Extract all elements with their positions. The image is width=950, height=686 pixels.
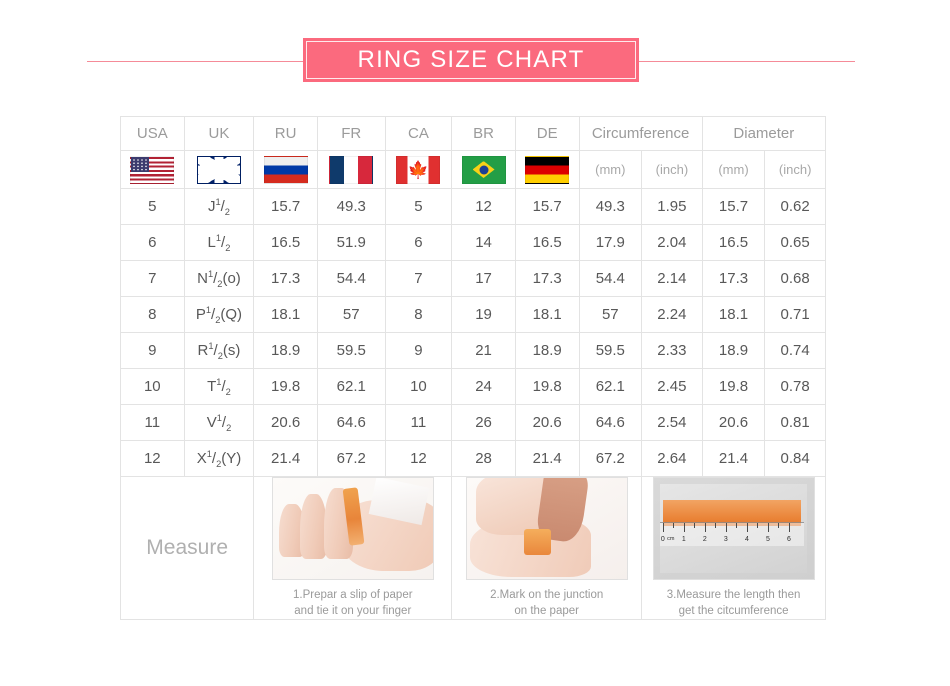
cell-uk: N1/2(o) [184,261,254,297]
cell-ca: 9 [385,333,452,369]
cell-usa: 7 [121,261,185,297]
cell-circ-in: 2.33 [642,333,703,369]
cell-uk: T1/2 [184,369,254,405]
uk-numerator: 1 [206,305,211,315]
cell-circ-mm: 57 [579,297,642,333]
cell-fr: 59.5 [317,333,385,369]
cell-circ-in: 1.95 [642,189,703,225]
cell-uk: X1/2(Y) [184,441,254,477]
cell-dia-in: 0.65 [765,225,826,261]
col-header-br: BR [452,117,516,151]
table-row: 5 J1/2 15.7 49.3 5 12 15.7 49.3 1.95 15.… [121,189,826,225]
page-title-banner: RING SIZE CHART [0,38,950,86]
flag-cell-ru [254,151,318,189]
cell-de: 18.1 [515,297,579,333]
col-header-fr: FR [317,117,385,151]
table-row: 9 R1/2(s) 18.9 59.5 9 21 18.9 59.5 2.33 … [121,333,826,369]
unit-diameter-inch: (inch) [765,151,826,189]
flag-cell-ca: 🍁 [385,151,452,189]
cell-fr: 64.6 [317,405,385,441]
cell-usa: 12 [121,441,185,477]
cell-circ-mm: 64.6 [579,405,642,441]
ruler-label-4: 4 [745,536,749,543]
cell-uk: R1/2(s) [184,333,254,369]
cell-ru: 19.8 [254,369,318,405]
cell-ca: 8 [385,297,452,333]
uk-denominator: 2 [225,207,230,217]
uk-denominator: 2 [225,243,230,253]
cell-dia-mm: 17.3 [702,261,765,297]
uk-denominator: 2 [226,387,231,397]
col-header-usa: USA [121,117,185,151]
uk-suffix: (o) [222,270,240,287]
uk-numerator: 1 [208,269,213,279]
maple-leaf-icon: 🍁 [408,161,429,178]
table-header-row: USA UK RU FR CA BR DE Circumference Diam… [121,117,826,151]
uk-denominator: 2 [226,423,231,433]
cell-circ-in: 2.45 [642,369,703,405]
cell-dia-in: 0.84 [765,441,826,477]
cell-br: 21 [452,333,516,369]
cell-fr: 49.3 [317,189,385,225]
measure-label: Measure [121,477,254,620]
cell-circ-mm: 54.4 [579,261,642,297]
cell-fr: 57 [317,297,385,333]
cell-dia-mm: 21.4 [702,441,765,477]
photo2-orange-strip [524,529,551,555]
hand-with-paper-strip-photo [272,477,434,580]
uk-suffix: (Q) [220,306,242,323]
photo3-ruler: 0 cm 1 2 3 4 5 6 [660,522,804,545]
flag-cell-uk [184,151,254,189]
cell-circ-mm: 17.9 [579,225,642,261]
cell-ca: 5 [385,189,452,225]
ring-size-table: USA UK RU FR CA BR DE Circumference Diam… [120,116,826,620]
cell-ca: 6 [385,225,452,261]
cell-ru: 15.7 [254,189,318,225]
page-title: RING SIZE CHART [358,46,585,74]
cell-ru: 17.3 [254,261,318,297]
table-row: 8 P1/2(Q) 18.1 57 8 19 18.1 57 2.24 18.1… [121,297,826,333]
flag-france-icon [329,156,373,184]
cell-ru: 18.1 [254,297,318,333]
ruler-label-6: 6 [787,536,791,543]
cell-circ-in: 2.14 [642,261,703,297]
measure-step-3: 0 cm 1 2 3 4 5 6 3.Measure the length th… [642,477,826,620]
cell-fr: 51.9 [317,225,385,261]
cell-ca: 12 [385,441,452,477]
table-row: 10 T1/2 19.8 62.1 10 24 19.8 62.1 2.45 1… [121,369,826,405]
uk-numerator: 1 [217,413,222,423]
cell-ru: 18.9 [254,333,318,369]
cell-dia-in: 0.78 [765,369,826,405]
uk-letter: N [197,270,208,287]
title-banner-inner-border: RING SIZE CHART [306,41,636,79]
uk-numerator: 1 [216,377,221,387]
uk-numerator: 1 [216,233,221,243]
col-header-ca: CA [385,117,452,151]
uk-letter: X [197,450,207,467]
table-row: 6 L1/2 16.5 51.9 6 14 16.5 17.9 2.04 16.… [121,225,826,261]
cell-de: 20.6 [515,405,579,441]
col-header-de: DE [515,117,579,151]
ruler-label-0: 0 [661,536,665,543]
unit-circumference-mm: (mm) [579,151,642,189]
cell-dia-mm: 18.9 [702,333,765,369]
unit-circumference-inch: (inch) [642,151,703,189]
uk-numerator: 1 [207,449,212,459]
ruler-label-3: 3 [724,536,728,543]
measure-step-2: 2.Mark on the junction on the paper [452,477,642,620]
cell-fr: 62.1 [317,369,385,405]
cell-br: 19 [452,297,516,333]
uk-suffix: (s) [223,342,241,359]
cell-circ-in: 2.64 [642,441,703,477]
table-row: 7 N1/2(o) 17.3 54.4 7 17 17.3 54.4 2.14 … [121,261,826,297]
cell-dia-in: 0.62 [765,189,826,225]
title-rule-right [639,61,855,62]
cell-usa: 9 [121,333,185,369]
cell-ca: 11 [385,405,452,441]
measure-section-row: Measure 1.Prepar a slip of paper and tie… [121,477,826,620]
ruler-unit-label: cm [667,536,674,542]
cell-circ-mm: 67.2 [579,441,642,477]
cell-usa: 11 [121,405,185,441]
flag-russia-icon [264,156,308,184]
cell-dia-in: 0.74 [765,333,826,369]
cell-circ-in: 2.54 [642,405,703,441]
table-flag-row: 🍁 (mm) (inch) (mm) (inch) [121,151,826,189]
cell-de: 21.4 [515,441,579,477]
cell-usa: 10 [121,369,185,405]
uk-letter: V [207,414,217,431]
cell-dia-mm: 16.5 [702,225,765,261]
cell-uk: J1/2 [184,189,254,225]
cell-fr: 67.2 [317,441,385,477]
unit-diameter-mm: (mm) [702,151,765,189]
flag-cell-usa [121,151,185,189]
cell-de: 18.9 [515,333,579,369]
cell-br: 17 [452,261,516,297]
cell-de: 15.7 [515,189,579,225]
col-header-diameter: Diameter [702,117,825,151]
ruler-label-1: 1 [682,536,686,543]
flag-canada-icon: 🍁 [396,156,440,184]
cell-dia-in: 0.71 [765,297,826,333]
flag-germany-icon [525,156,569,184]
cell-circ-mm: 62.1 [579,369,642,405]
cell-br: 12 [452,189,516,225]
cell-br: 14 [452,225,516,261]
table-row: 12 X1/2(Y) 21.4 67.2 12 28 21.4 67.2 2.6… [121,441,826,477]
flag-cell-br [452,151,516,189]
marking-junction-photo [466,477,628,580]
cell-br: 26 [452,405,516,441]
cell-circ-mm: 59.5 [579,333,642,369]
cell-circ-mm: 49.3 [579,189,642,225]
cell-usa: 8 [121,297,185,333]
table-row: 11 V1/2 20.6 64.6 11 26 20.6 64.6 2.54 2… [121,405,826,441]
cell-ca: 7 [385,261,452,297]
cell-dia-mm: 15.7 [702,189,765,225]
flag-cell-de [515,151,579,189]
ruler-label-5: 5 [766,536,770,543]
cell-usa: 6 [121,225,185,261]
title-banner-box: RING SIZE CHART [303,38,639,82]
cell-de: 19.8 [515,369,579,405]
cell-de: 16.5 [515,225,579,261]
col-header-circumference: Circumference [579,117,702,151]
cell-de: 17.3 [515,261,579,297]
col-header-uk: UK [184,117,254,151]
uk-letter: P [196,306,206,323]
ruler-label-2: 2 [703,536,707,543]
cell-circ-in: 2.04 [642,225,703,261]
flag-uk-icon [197,156,241,184]
cell-usa: 5 [121,189,185,225]
cell-dia-mm: 19.8 [702,369,765,405]
flag-brazil-icon [462,156,506,184]
measure-step-2-caption: 2.Mark on the junction on the paper [452,588,641,619]
cell-br: 24 [452,369,516,405]
cell-dia-in: 0.68 [765,261,826,297]
uk-letter: R [198,342,209,359]
cell-uk: P1/2(Q) [184,297,254,333]
cell-uk: L1/2 [184,225,254,261]
cell-ru: 16.5 [254,225,318,261]
cell-uk: V1/2 [184,405,254,441]
col-header-ru: RU [254,117,318,151]
flag-usa-icon [130,156,174,184]
cell-ru: 21.4 [254,441,318,477]
uk-numerator: 1 [208,341,213,351]
cell-ru: 20.6 [254,405,318,441]
flag-cell-fr [317,151,385,189]
uk-letter: T [207,378,216,395]
cell-br: 28 [452,441,516,477]
measure-step-3-caption: 3.Measure the length then get the citcum… [642,588,825,619]
cell-dia-in: 0.81 [765,405,826,441]
cell-dia-mm: 18.1 [702,297,765,333]
title-rule-left [87,61,305,62]
cell-circ-in: 2.24 [642,297,703,333]
ruler-measuring-strip-photo: 0 cm 1 2 3 4 5 6 [653,477,815,580]
measure-step-1: 1.Prepar a slip of paper and tie it on y… [254,477,452,620]
uk-letter: L [208,234,216,251]
cell-fr: 54.4 [317,261,385,297]
measure-step-1-caption: 1.Prepar a slip of paper and tie it on y… [254,588,451,619]
cell-ca: 10 [385,369,452,405]
brazil-globe-shape [479,165,488,174]
uk-suffix: (Y) [221,450,241,467]
cell-dia-mm: 20.6 [702,405,765,441]
uk-numerator: 1 [215,197,220,207]
